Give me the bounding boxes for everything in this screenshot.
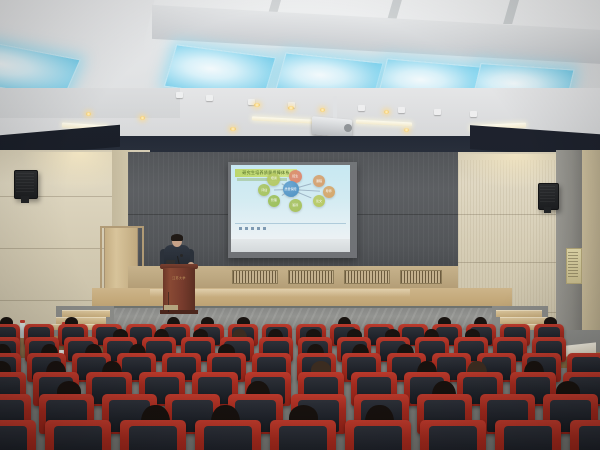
podium-base — [160, 310, 198, 314]
auditorium-seat-cushion — [279, 426, 328, 450]
vent-grille — [400, 270, 442, 284]
loudspeaker-grille — [16, 173, 34, 193]
auditorium-seat-cushion — [204, 426, 253, 450]
projector-lens-icon — [344, 124, 352, 132]
vent-grille — [288, 270, 334, 284]
slide-divider — [235, 223, 346, 224]
floor-outlet-box — [164, 305, 178, 310]
auditorium-seat-cushion — [0, 426, 27, 450]
stage-step — [62, 310, 110, 317]
auditorium-seat-cushion — [429, 426, 478, 450]
loudspeaker-grille — [540, 186, 555, 204]
projection-screen-lower-band — [231, 239, 350, 252]
track-light — [398, 107, 405, 113]
podium-nameplate: 江苏大学 — [166, 276, 192, 281]
audience-area — [0, 320, 600, 450]
downlight-icon — [86, 112, 91, 116]
downlight-icon — [230, 127, 236, 131]
slide-node: 答辩 — [289, 199, 302, 212]
auditorium-seat-cushion — [129, 426, 178, 450]
downlight-icon — [384, 110, 389, 114]
track-light — [176, 92, 183, 98]
track-light — [470, 111, 477, 117]
slide-title: 研究生培养质量保障体系 — [235, 169, 297, 177]
presenter-hair — [171, 234, 183, 241]
wall-seam — [448, 214, 560, 215]
slide-footer — [239, 227, 269, 230]
projection-screen: 研究生培养质量保障体系 招生课程导师论文答辩管理评估培训质量保障 — [231, 165, 350, 239]
loudspeaker-bracket — [544, 207, 551, 213]
slide-center-node: 质量保障 — [283, 181, 299, 197]
downlight-icon — [320, 108, 325, 112]
slide-node: 培训 — [267, 173, 280, 186]
auditorium-seat-cushion — [504, 426, 553, 450]
track-light — [206, 95, 213, 101]
auditorium-photo: 研究生培养质量保障体系 招生课程导师论文答辩管理评估培训质量保障 江苏大学 — [0, 0, 600, 450]
slide-node: 课程 — [313, 175, 325, 187]
track-light — [434, 109, 441, 115]
microphone-icon — [180, 254, 183, 257]
wall-seam — [448, 262, 560, 263]
auditorium-seat-cushion — [54, 426, 103, 450]
vent-grille — [232, 270, 278, 284]
auditorium-seat-cushion — [354, 426, 403, 450]
vent-grille — [344, 270, 390, 284]
auditorium-seat-cushion — [579, 426, 600, 450]
downlight-icon — [288, 106, 294, 110]
notice-board-text — [568, 252, 578, 278]
slide-node: 评估 — [258, 184, 270, 196]
downlight-icon — [404, 128, 409, 132]
downlight-icon — [140, 116, 145, 120]
slide-node: 论文 — [313, 195, 325, 207]
loudspeaker-bracket — [21, 196, 29, 203]
track-light — [358, 105, 365, 111]
slide-node: 导师 — [323, 186, 335, 198]
downlight-icon — [254, 103, 260, 107]
stage-step — [496, 310, 542, 317]
slide-node: 管理 — [268, 195, 280, 207]
projector-mount — [333, 96, 337, 120]
